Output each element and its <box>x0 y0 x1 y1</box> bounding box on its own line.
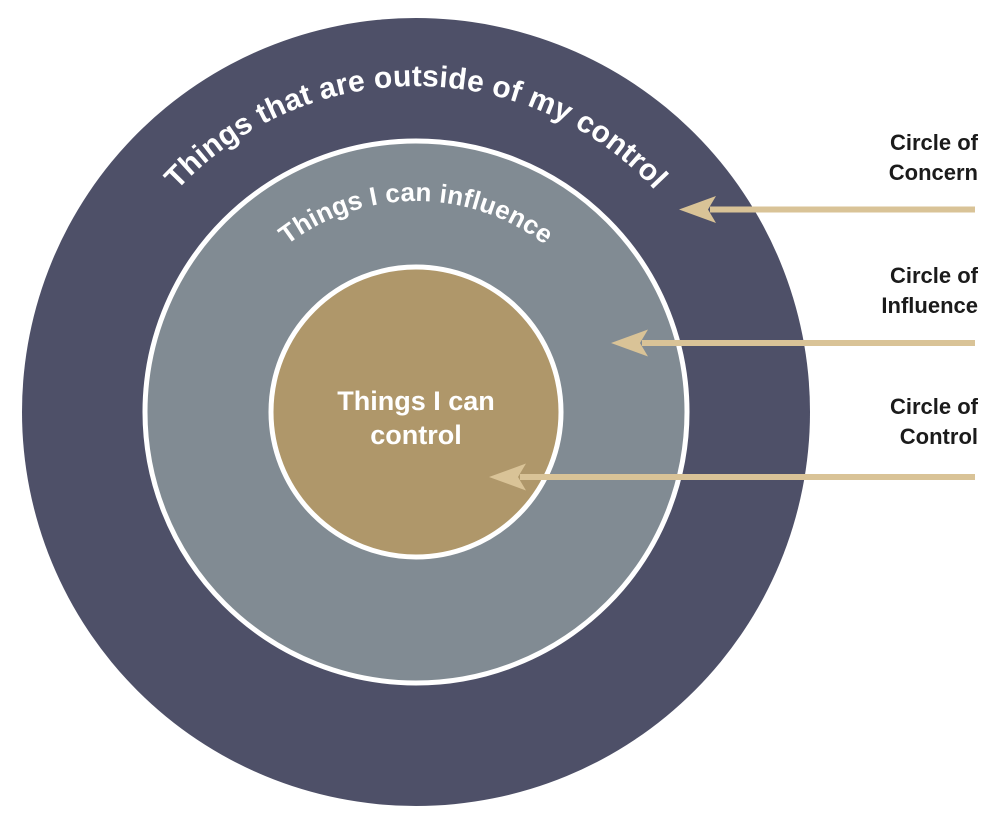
side-label-concern: Circle of Concern <box>889 128 978 187</box>
ring-control-label-line2: control <box>370 420 462 450</box>
side-label-concern-line2: Concern <box>889 158 978 188</box>
diagram-canvas: Things that are outside of my control Th… <box>0 0 1000 824</box>
arrow-concern-shaft <box>710 207 975 213</box>
arrow-control-shaft <box>520 474 975 480</box>
ring-control-label-line1: Things I can <box>337 386 495 416</box>
arrow-influence-shaft <box>642 340 975 346</box>
side-label-control-line1: Circle of <box>890 392 978 422</box>
concentric-circles-diagram: Things that are outside of my control Th… <box>0 0 1000 824</box>
side-label-influence-line2: Influence <box>881 291 978 321</box>
side-label-influence: Circle of Influence <box>881 261 978 320</box>
side-label-influence-line1: Circle of <box>881 261 978 291</box>
side-label-concern-line1: Circle of <box>889 128 978 158</box>
side-label-control: Circle of Control <box>890 392 978 451</box>
side-label-control-line2: Control <box>890 422 978 452</box>
